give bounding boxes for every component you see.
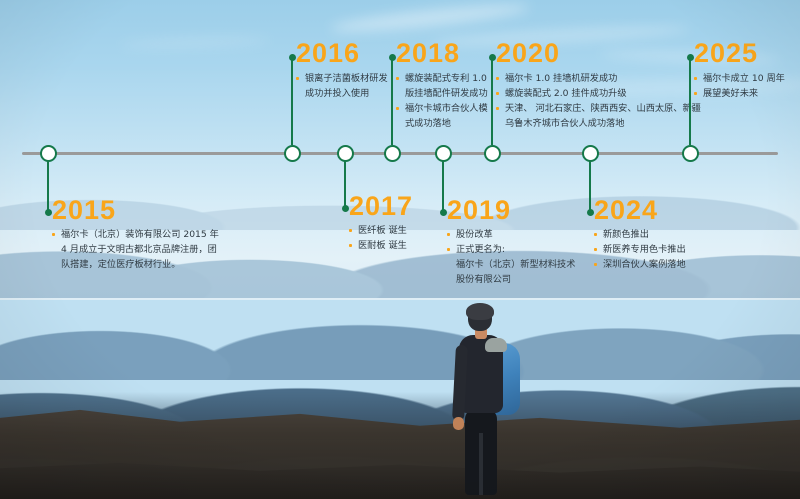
- timeline-entry-2019: 2019股份改革正式更名为:福尔卡（北京）新型材料技术股份有限公司: [447, 197, 575, 287]
- timeline-entry-2015: 2015福尔卡（北京）装饰有限公司 2015 年4 月成立于文明古都北京品牌注册…: [52, 197, 219, 272]
- timeline-bullet-item: 新颜色推出: [594, 227, 686, 242]
- timeline-bullet-item: 福尔卡（北京）装饰有限公司 2015 年: [52, 227, 219, 242]
- timeline-stem-2025: [689, 57, 691, 145]
- timeline-entry-2016: 2016银离子洁菌板材研发成功并投入使用: [296, 40, 388, 101]
- timeline-stem-2016: [291, 57, 293, 145]
- timeline-node-2017[interactable]: [337, 145, 354, 162]
- timeline-year-label-2025: 2025: [694, 40, 785, 67]
- timeline-stem-dot-2024: [587, 209, 594, 216]
- timeline-bullet-list-2015: 福尔卡（北京）装饰有限公司 2015 年4 月成立于文明古都北京品牌注册，团队搭…: [52, 227, 219, 272]
- timeline-node-2020[interactable]: [484, 145, 501, 162]
- timeline-entry-2025: 2025福尔卡成立 10 周年展望美好未来: [694, 40, 785, 101]
- timeline-node-2016[interactable]: [284, 145, 301, 162]
- timeline-bullet-item: 医耐板 诞生: [349, 238, 413, 253]
- timeline-year-label-2020: 2020: [496, 40, 701, 67]
- timeline-stem-2024: [589, 161, 591, 213]
- timeline-stem-dot-2019: [440, 209, 447, 216]
- timeline-bullet-list-2024: 新颜色推出新医养专用色卡推出深圳合伙人案例落地: [594, 227, 686, 272]
- timeline-bullet-item: 福尔卡 1.0 挂墙机研发成功: [496, 71, 701, 86]
- timeline-bullet-list-2018: 螺旋装配式专利 1.0版挂墙配件研发成功福尔卡城市合伙人模式成功落地: [396, 71, 488, 131]
- timeline-entry-2020: 2020福尔卡 1.0 挂墙机研发成功螺旋装配式 2.0 挂件成功升级天津、 河…: [496, 40, 701, 131]
- timeline-bullet-list-2025: 福尔卡成立 10 周年展望美好未来: [694, 71, 785, 101]
- hiker-hair: [466, 303, 494, 320]
- timeline-stem-dot-2018: [389, 54, 396, 61]
- timeline-bullet-item: 医纤板 诞生: [349, 223, 413, 238]
- timeline-bullet-item: 银离子洁菌板材研发: [296, 71, 388, 86]
- timeline-bullet-list-2019: 股份改革正式更名为:福尔卡（北京）新型材料技术股份有限公司: [447, 227, 575, 287]
- timeline-stem-2018: [391, 57, 393, 145]
- timeline-node-2018[interactable]: [384, 145, 401, 162]
- timeline-bullet-item: 螺旋装配式 2.0 挂件成功升级: [496, 86, 701, 101]
- timeline-bullet-item: 正式更名为:: [447, 242, 575, 257]
- timeline-stem-2019: [442, 161, 444, 213]
- hiker-silhouette: [432, 305, 552, 499]
- timeline-node-2015[interactable]: [40, 145, 57, 162]
- backpack-top: [485, 338, 507, 352]
- timeline-year-label-2018: 2018: [396, 40, 488, 67]
- timeline-stem-2017: [344, 161, 346, 209]
- timeline-bullet-continuation: 福尔卡（北京）新型材料技术: [447, 257, 575, 272]
- timeline-bullet-continuation: 式成功落地: [396, 116, 488, 131]
- timeline-bullet-item: 螺旋装配式专利 1.0: [396, 71, 488, 86]
- timeline-bullet-continuation: 版挂墙配件研发成功: [396, 86, 488, 101]
- timeline-year-label-2024: 2024: [594, 197, 686, 224]
- timeline-year-label-2019: 2019: [447, 197, 575, 224]
- timeline-infographic: 2015福尔卡（北京）装饰有限公司 2015 年4 月成立于文明古都北京品牌注册…: [0, 0, 800, 499]
- timeline-stem-dot-2017: [342, 205, 349, 212]
- timeline-bullet-continuation: 乌鲁木齐城市合伙人成功落地: [496, 116, 701, 131]
- timeline-stem-dot-2025: [687, 54, 694, 61]
- timeline-stem-dot-2015: [45, 209, 52, 216]
- timeline-bullet-item: 展望美好未来: [694, 86, 785, 101]
- timeline-node-2025[interactable]: [682, 145, 699, 162]
- timeline-year-label-2016: 2016: [296, 40, 388, 67]
- timeline-bullet-continuation: 4 月成立于文明古都北京品牌注册，团: [52, 242, 219, 257]
- timeline-bullet-item: 新医养专用色卡推出: [594, 242, 686, 257]
- timeline-bullet-continuation: 股份有限公司: [447, 272, 575, 287]
- timeline-bullet-item: 福尔卡城市合伙人模: [396, 101, 488, 116]
- timeline-bullet-continuation: 成功并投入使用: [296, 86, 388, 101]
- hiker-hand: [453, 417, 464, 430]
- timeline-bullet-item: 福尔卡成立 10 周年: [694, 71, 785, 86]
- timeline-bullet-item: 股份改革: [447, 227, 575, 242]
- timeline-bullet-list-2016: 银离子洁菌板材研发成功并投入使用: [296, 71, 388, 101]
- timeline-year-label-2015: 2015: [52, 197, 219, 224]
- timeline-stem-dot-2020: [489, 54, 496, 61]
- timeline-stem-2020: [491, 57, 493, 145]
- timeline-entry-2017: 2017医纤板 诞生医耐板 诞生: [349, 193, 413, 253]
- hiker-leg-gap: [479, 433, 483, 495]
- timeline-stem-dot-2016: [289, 54, 296, 61]
- timeline-entry-2018: 2018螺旋装配式专利 1.0版挂墙配件研发成功福尔卡城市合伙人模式成功落地: [396, 40, 488, 131]
- timeline-node-2024[interactable]: [582, 145, 599, 162]
- timeline-entry-2024: 2024新颜色推出新医养专用色卡推出深圳合伙人案例落地: [594, 197, 686, 272]
- timeline-year-label-2017: 2017: [349, 193, 413, 220]
- timeline-bullet-list-2017: 医纤板 诞生医耐板 诞生: [349, 223, 413, 253]
- timeline-bullet-list-2020: 福尔卡 1.0 挂墙机研发成功螺旋装配式 2.0 挂件成功升级天津、 河北石家庄…: [496, 71, 701, 131]
- timeline-node-2019[interactable]: [435, 145, 452, 162]
- timeline-bullet-item: 天津、 河北石家庄、陕西西安、山西太原、新疆: [496, 101, 701, 116]
- timeline-bullet-item: 深圳合伙人案例落地: [594, 257, 686, 272]
- timeline-stem-2015: [47, 161, 49, 213]
- timeline-bullet-continuation: 队搭建，定位医疗板材行业。: [52, 257, 219, 272]
